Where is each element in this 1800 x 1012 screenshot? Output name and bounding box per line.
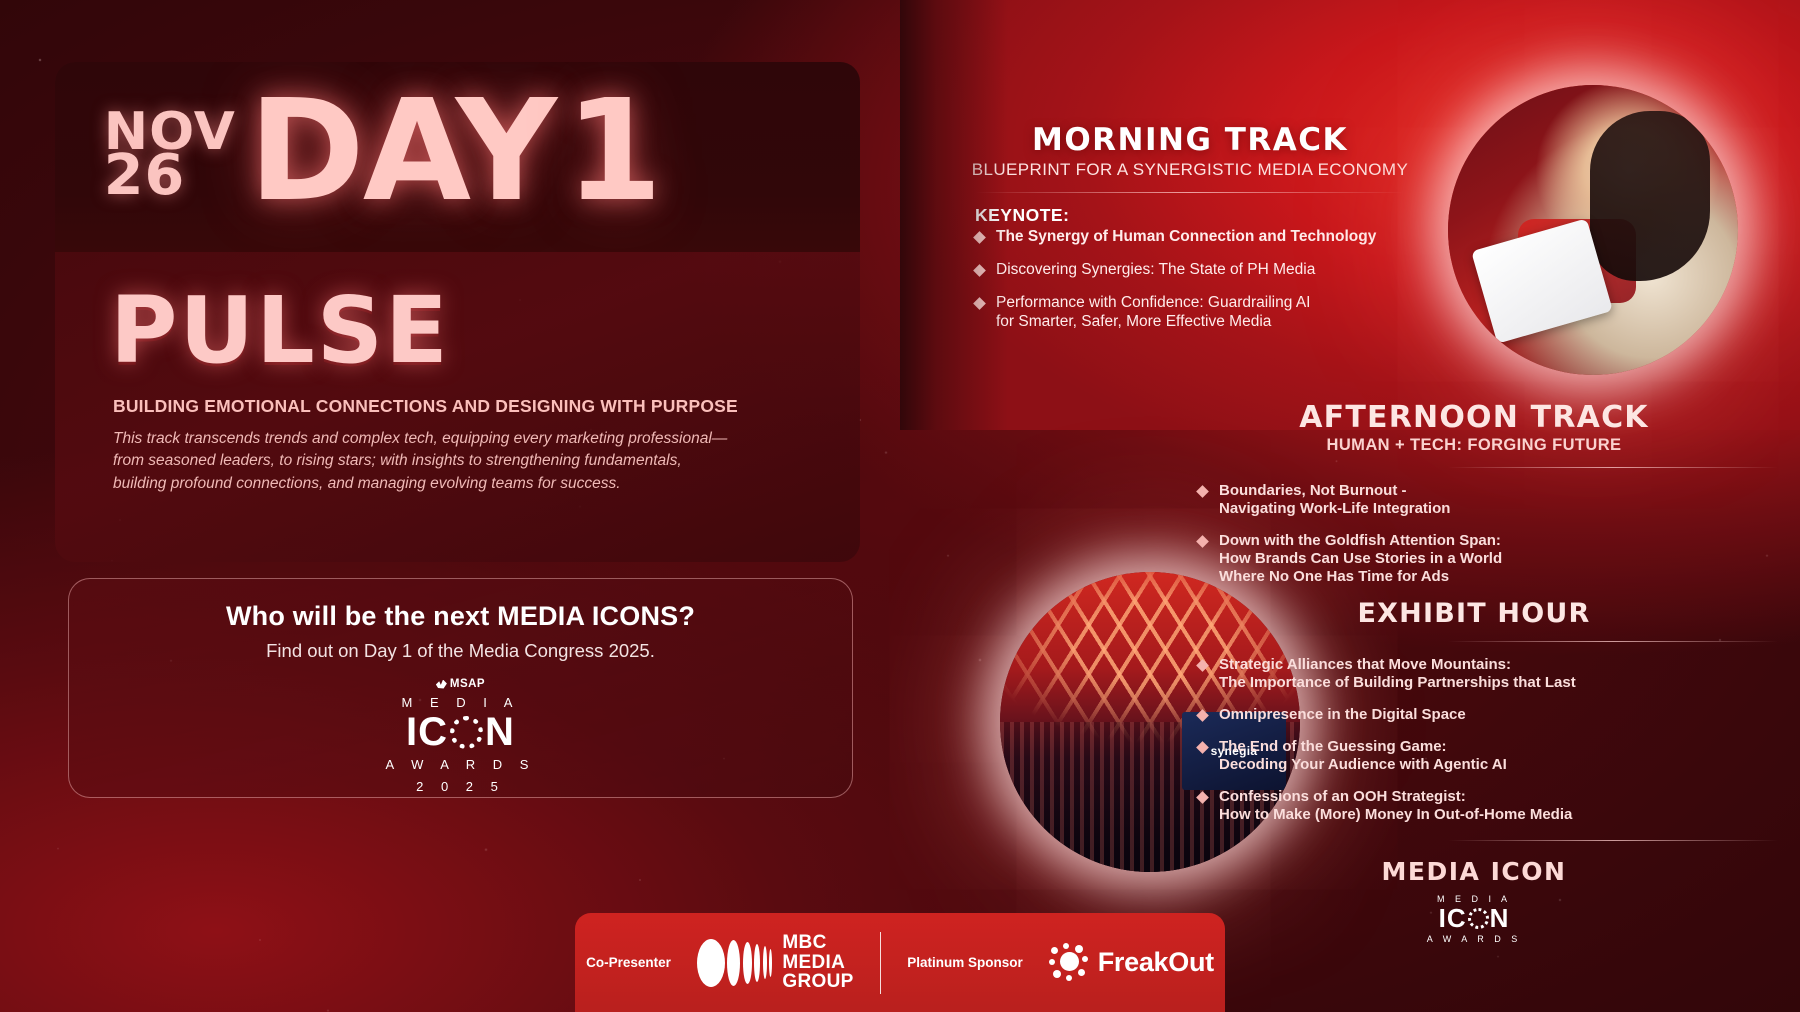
msap-brand: MSAP	[436, 678, 485, 690]
msap-swoosh-icon	[436, 680, 447, 689]
logo-icon-right: N	[485, 712, 515, 752]
list-item[interactable]: Discovering Synergies: The State of PH M…	[975, 261, 1405, 280]
keynote-label: KEYNOTE:	[975, 205, 1405, 226]
session-title: Strategic Alliances that Move Mountains:…	[1219, 656, 1576, 692]
poster-canvas: MORNING TRACK BLUEPRINT FOR A SYNERGISTI…	[0, 0, 1800, 1012]
msap-label: MSAP	[450, 678, 485, 690]
morning-track-content: MORNING TRACK BLUEPRINT FOR A SYNERGISTI…	[900, 0, 1460, 332]
media-icon-awards-logo: MSAP M E D I A IC N A W A R D S 2 0 2 5	[386, 678, 536, 794]
media-icon-title: MEDIA ICON	[1170, 857, 1778, 886]
logo-year: 2 0 2 5	[416, 779, 505, 794]
logo-icon-right: N	[1490, 905, 1510, 931]
media-icon-divider	[1448, 840, 1778, 841]
list-item[interactable]: Omnipresence in the Digital Space	[1170, 706, 1778, 724]
morning-track-title: MORNING TRACK	[920, 122, 1460, 158]
morning-track-photo	[1448, 85, 1738, 375]
dotted-ring-icon	[450, 716, 483, 749]
day-header-band: NOV 26 DAY1	[55, 62, 860, 252]
session-title: Discovering Synergies: The State of PH M…	[996, 261, 1315, 280]
awards-subtitle: Find out on Day 1 of the Media Congress …	[69, 640, 852, 662]
exhibit-session-list: Strategic Alliances that Move Mountains:…	[1170, 656, 1778, 824]
session-title: The End of the Guessing Game: Decoding Y…	[1219, 738, 1507, 774]
afternoon-track-title: AFTERNOON TRACK	[1170, 400, 1778, 435]
awards-question: Who will be the next MEDIA ICONS?	[69, 601, 852, 632]
platinum-sponsor-label: Platinum Sponsor	[907, 955, 1023, 970]
list-item[interactable]: The Synergy of Human Connection and Tech…	[975, 228, 1405, 247]
morning-divider	[975, 192, 1405, 193]
afternoon-divider	[1448, 467, 1778, 468]
logo-line-icon: IC N	[1439, 905, 1510, 931]
morning-track-subtitle: BLUEPRINT FOR A SYNERGISTIC MEDIA ECONOM…	[920, 160, 1460, 180]
mbc-wordmark: MBC MEDIA GROUP	[782, 933, 853, 992]
session-title: Boundaries, Not Burnout - Navigating Wor…	[1219, 482, 1450, 518]
track-tagline: BUILDING EMOTIONAL CONNECTIONS AND DESIG…	[113, 396, 738, 417]
freakout-wordmark: FreakOut	[1098, 947, 1214, 978]
session-title: Confessions of an OOH Strategist: How to…	[1219, 788, 1572, 824]
media-icon-awards-card[interactable]: Who will be the next MEDIA ICONS? Find o…	[68, 578, 853, 798]
diamond-bullet-icon	[1196, 741, 1209, 754]
list-item[interactable]: Performance with Confidence: Guardrailin…	[975, 294, 1405, 332]
mbc-mark-icon	[697, 939, 773, 987]
freakout-logo[interactable]: FreakOut	[1049, 943, 1214, 983]
dotted-ring-icon	[1468, 908, 1489, 929]
diamond-bullet-icon	[973, 231, 986, 244]
media-icon-awards-logo-small: M E D I A IC N A W A R D S	[1427, 894, 1522, 944]
sponsor-footer-bar: Co-Presenter MBC MEDIA GROUP Platinum Sp…	[575, 913, 1225, 1012]
logo-line-awards: A W A R D S	[1427, 934, 1522, 944]
session-title: Performance with Confidence: Guardrailin…	[996, 294, 1310, 332]
logo-icon-left: IC	[1439, 905, 1467, 931]
morning-session-list: The Synergy of Human Connection and Tech…	[975, 228, 1405, 332]
afternoon-track-subtitle: HUMAN + TECH: FORGING FUTURE	[1170, 436, 1778, 455]
logo-line-icon: IC N	[406, 712, 515, 752]
hair-shape	[1590, 111, 1710, 281]
session-title: Omnipresence in the Digital Space	[1219, 706, 1466, 724]
day-number: 1	[565, 70, 660, 233]
list-item[interactable]: The End of the Guessing Game: Decoding Y…	[1170, 738, 1778, 774]
list-item[interactable]: Down with the Goldfish Attention Span: H…	[1170, 532, 1778, 586]
diamond-bullet-icon	[1196, 659, 1209, 672]
day-word: DAY	[249, 70, 556, 233]
day-title: DAY1	[249, 82, 661, 222]
logo-icon-left: IC	[406, 712, 448, 752]
diamond-bullet-icon	[973, 264, 986, 277]
exhibit-divider	[1448, 641, 1778, 642]
event-date: NOV 26	[104, 105, 236, 200]
diamond-bullet-icon	[973, 297, 986, 310]
afternoon-session-list: Boundaries, Not Burnout - Navigating Wor…	[1170, 482, 1778, 586]
session-title: Down with the Goldfish Attention Span: H…	[1219, 532, 1502, 586]
track-name: PULSE	[110, 285, 450, 377]
diamond-bullet-icon	[1196, 709, 1209, 722]
track-description: This track transcends trends and complex…	[113, 428, 733, 495]
date-day: 26	[104, 153, 236, 199]
footer-divider	[880, 932, 882, 994]
exhibit-hour-title: EXHIBIT HOUR	[1170, 598, 1778, 629]
list-item[interactable]: Confessions of an OOH Strategist: How to…	[1170, 788, 1778, 824]
logo-line-media: M E D I A	[402, 695, 520, 710]
freakout-mark-icon	[1049, 943, 1089, 983]
mbc-media-group-logo[interactable]: MBC MEDIA GROUP	[697, 933, 854, 992]
logo-line-awards: A W A R D S	[386, 757, 536, 772]
session-title: The Synergy of Human Connection and Tech…	[996, 228, 1376, 247]
diamond-bullet-icon	[1196, 791, 1209, 804]
afternoon-track-section: AFTERNOON TRACK HUMAN + TECH: FORGING FU…	[1170, 400, 1800, 944]
list-item[interactable]: Strategic Alliances that Move Mountains:…	[1170, 656, 1778, 692]
co-presenter-label: Co-Presenter	[586, 955, 671, 970]
diamond-bullet-icon	[1196, 535, 1209, 548]
tablet-device	[1471, 218, 1613, 343]
list-item[interactable]: Boundaries, Not Burnout - Navigating Wor…	[1170, 482, 1778, 518]
day-header-row: NOV 26 DAY1	[105, 82, 661, 222]
diamond-bullet-icon	[1196, 485, 1209, 498]
